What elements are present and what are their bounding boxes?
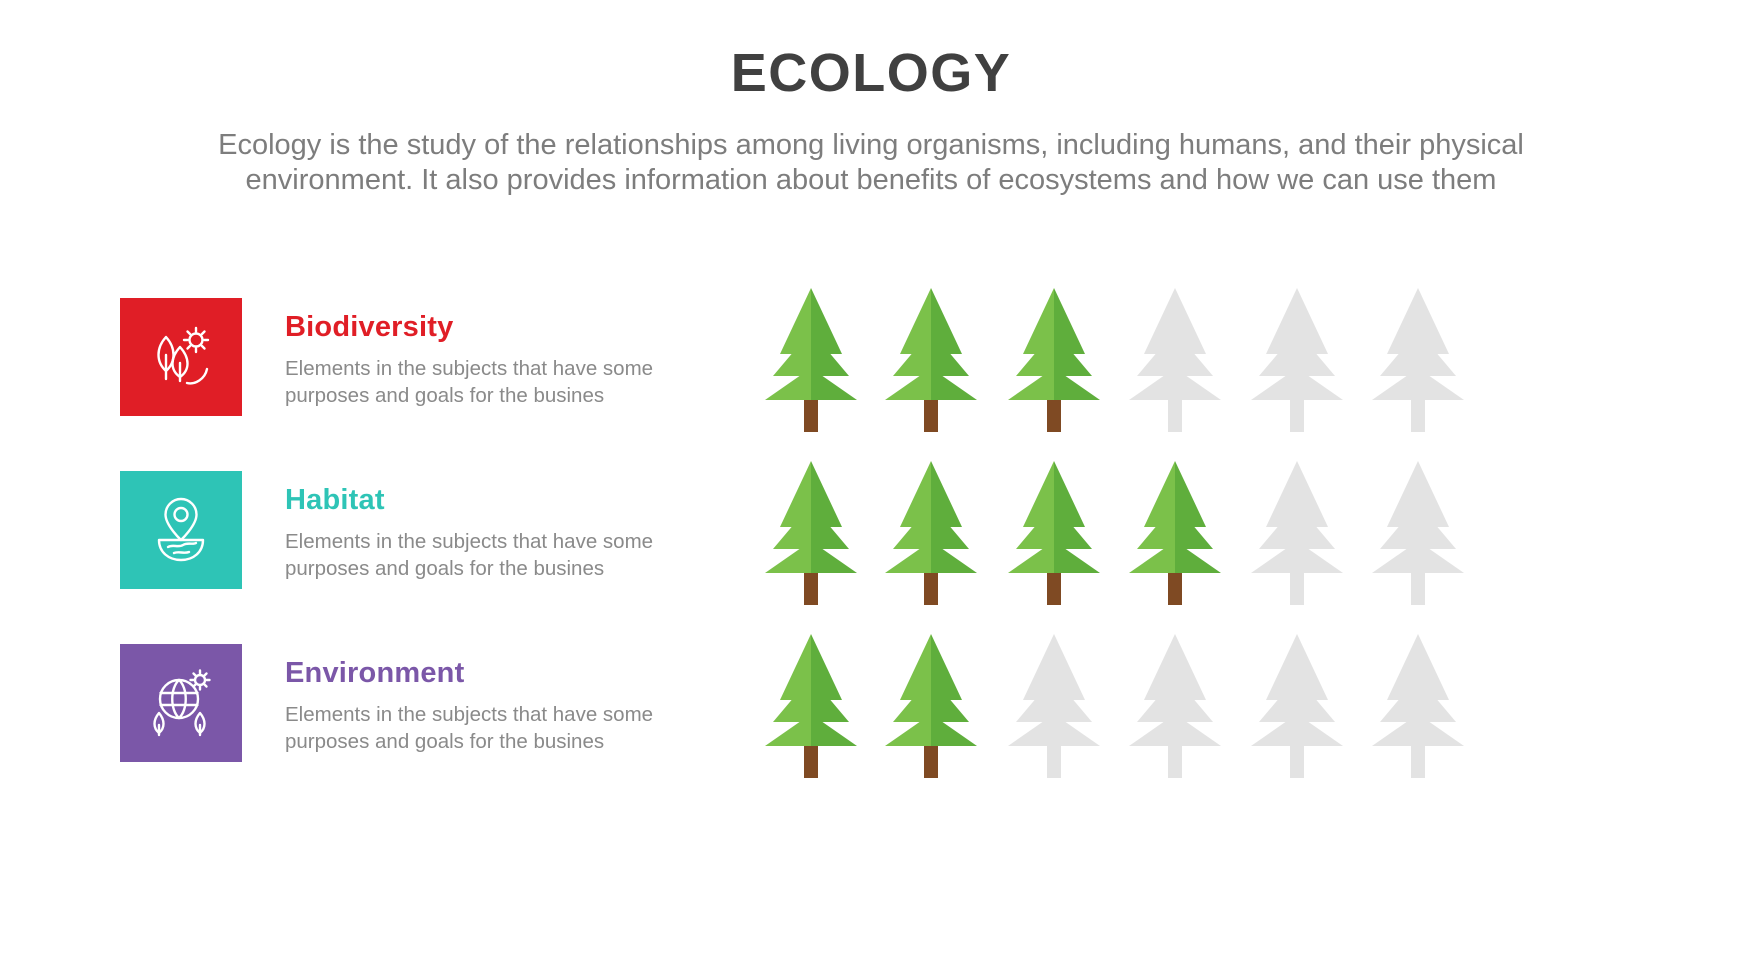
tree-row-biodiversity	[752, 276, 1472, 449]
tree-pictogram-chart	[752, 276, 1472, 796]
tree-icon-filled	[995, 449, 1113, 622]
icon-box-biodiversity	[120, 298, 242, 416]
globe-plants-sun-icon	[143, 663, 219, 744]
tree-icon-empty	[995, 622, 1113, 795]
page-subtitle: Ecology is the study of the relationship…	[61, 128, 1681, 198]
subtitle-line-2: environment. It also provides informatio…	[61, 163, 1681, 198]
tree-icon-empty	[1359, 276, 1477, 449]
tree-icon-filled	[752, 622, 870, 795]
location-pin-hand-icon	[143, 490, 219, 571]
item-body-habitat: Habitat Elements in the subjects that ha…	[285, 485, 685, 582]
item-title-biodiversity: Biodiversity	[285, 312, 685, 344]
tree-icon-empty	[1359, 622, 1477, 795]
tree-icon-empty	[1359, 449, 1477, 622]
icon-box-habitat	[120, 471, 242, 589]
item-description-habitat: Elements in the subjects that have some …	[285, 528, 663, 582]
tree-icon-filled	[1116, 449, 1234, 622]
tree-icon-filled	[752, 449, 870, 622]
item-body-environment: Environment Elements in the subjects tha…	[285, 658, 685, 755]
list-item-environment[interactable]: Environment Elements in the subjects tha…	[120, 644, 700, 817]
leaf-sun-icon	[143, 317, 219, 398]
subtitle-line-1: Ecology is the study of the relationship…	[61, 128, 1681, 163]
tree-icon-empty	[1238, 276, 1356, 449]
tree-icon-empty	[1116, 622, 1234, 795]
item-description-biodiversity: Elements in the subjects that have some …	[285, 355, 663, 409]
page-title: ECOLOGY	[0, 42, 1742, 104]
item-list: Biodiversity Elements in the subjects th…	[120, 298, 700, 817]
item-description-environment: Elements in the subjects that have some …	[285, 701, 663, 755]
tree-icon-empty	[1238, 622, 1356, 795]
list-item-biodiversity[interactable]: Biodiversity Elements in the subjects th…	[120, 298, 700, 471]
icon-box-environment	[120, 644, 242, 762]
tree-row-environment	[752, 622, 1472, 795]
item-title-environment: Environment	[285, 658, 685, 690]
infographic-page: ECOLOGY Ecology is the study of the rela…	[0, 0, 1742, 980]
tree-icon-empty	[1116, 276, 1234, 449]
tree-icon-empty	[1238, 449, 1356, 622]
tree-icon-filled	[872, 276, 990, 449]
tree-icon-filled	[995, 276, 1113, 449]
tree-icon-filled	[872, 622, 990, 795]
header: ECOLOGY Ecology is the study of the rela…	[0, 42, 1742, 198]
item-body-biodiversity: Biodiversity Elements in the subjects th…	[285, 312, 685, 409]
item-title-habitat: Habitat	[285, 485, 685, 517]
tree-icon-filled	[752, 276, 870, 449]
list-item-habitat[interactable]: Habitat Elements in the subjects that ha…	[120, 471, 700, 644]
tree-icon-filled	[872, 449, 990, 622]
tree-row-habitat	[752, 449, 1472, 622]
